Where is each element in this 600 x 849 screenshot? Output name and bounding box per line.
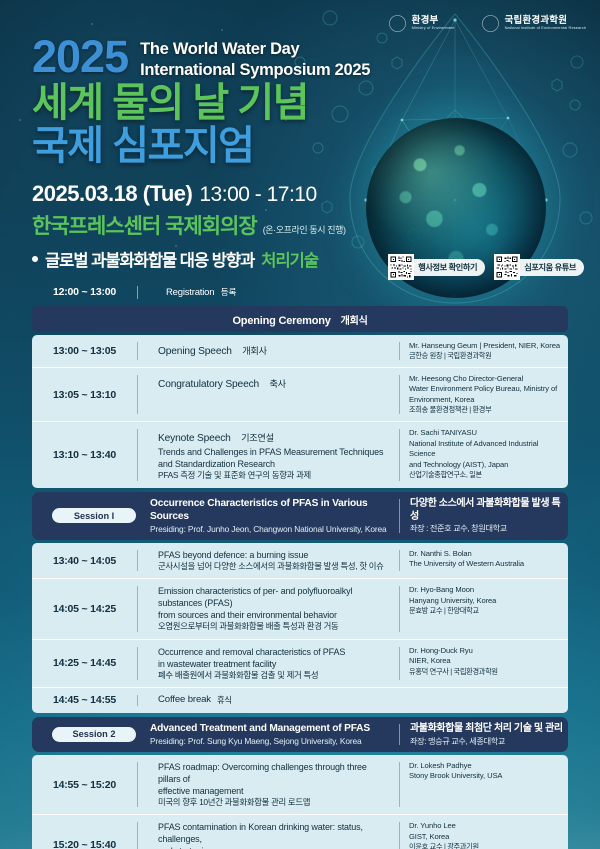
topic-en: PFAS contamination in Korean drinking wa…	[158, 821, 391, 845]
speaker-en: and Technology (AIST), Japan	[409, 460, 562, 470]
session1-header: Session I Occurrence Characteristics of …	[32, 492, 568, 540]
speaker-en: Hanyang University, Korea	[409, 596, 562, 606]
row-time: 13:00 ~ 13:05	[32, 335, 137, 367]
event-time: 13:00 - 17:10	[199, 183, 316, 207]
topic-en: from sources and their environmental beh…	[158, 609, 391, 621]
topic-en: Congratulatory Speech	[158, 379, 259, 390]
speaker-en: NIER, Korea	[409, 656, 562, 666]
registration-title-kr: 등록	[221, 287, 236, 297]
row-time: 15:20 ~ 15:40	[32, 815, 137, 849]
topic-sub-kr: PFAS 측정 기술 및 표준화 연구의 동향과 과제	[158, 470, 391, 481]
speaker-kr: 유홍덕 연구사 | 국립환경과학원	[409, 667, 562, 677]
row-speaker: Mr. Heesong Cho Director-General Water E…	[400, 368, 568, 421]
topic-en: Emission characteristics of per- and pol…	[158, 585, 391, 609]
topic-kr: 오염원으로부터의 과불화화합물 배출 특성과 환경 거동	[158, 621, 391, 632]
row-topic: PFAS contamination in Korean drinking wa…	[138, 815, 399, 849]
qr-code-icon[interactable]	[494, 254, 520, 280]
session1-presiding-en: Presiding: Prof. Junho Jeon, Changwon Na…	[150, 524, 399, 535]
speaker-en: The University of Western Australia	[409, 559, 562, 569]
speaker-en: National Institute of Advanced Industria…	[409, 439, 562, 460]
topic-kr: 휴식	[217, 695, 232, 706]
topic-kr: 폐수 배출원에서 과불화화합물 검출 및 제거 특성	[158, 670, 391, 681]
speaker-en: Water Environment Policy Bureau, Ministr…	[409, 384, 562, 405]
speaker-en: GIST, Korea	[409, 832, 562, 842]
table-row: 13:00 ~ 13:05 Opening Speech 개회사 Mr. Han…	[32, 335, 568, 368]
row-topic: Opening Speech 개회사	[138, 335, 399, 367]
taegeuk-icon	[481, 14, 500, 33]
topic-en: effective management	[158, 785, 391, 797]
topic-en: and strategic responses	[158, 845, 391, 849]
opening-ceremony-rows: 13:00 ~ 13:05 Opening Speech 개회사 Mr. Han…	[32, 335, 568, 488]
qr-youtube-label[interactable]: 심포지움 유튜브	[511, 259, 584, 276]
qr-event-info-label[interactable]: 행사정보 확인하기	[405, 259, 485, 276]
registration-title-en: Registration	[166, 287, 214, 298]
session1-info: Occurrence Characteristics of PFAS in Va…	[136, 497, 399, 535]
date-year: 2025.	[32, 181, 85, 207]
topic-en: Occurrence and removal characteristics o…	[158, 646, 391, 658]
topic-en: Opening Speech	[158, 346, 232, 357]
row-topic: PFAS beyond defence: a burning issue 군사시…	[138, 543, 399, 578]
year-heading: 2025	[32, 36, 128, 77]
session2-info-kr: 과불화화합물 최첨단 처리 기술 및 관리 좌장: 맹승규 교수, 세종대학교	[400, 722, 568, 747]
opening-ceremony-band: Opening Ceremony 개회식	[32, 306, 568, 332]
topic-kr: 축사	[270, 379, 286, 389]
korean-title-line1: 세계 물의 날 기념	[32, 82, 370, 125]
topic-line: 글로벌 과불화화합물 대응 방향과 처리기술	[32, 247, 318, 271]
qr-youtube[interactable]: 심포지움 유튜브	[494, 254, 584, 280]
row-time: 13:05 ~ 13:10	[32, 368, 137, 421]
english-title: The World Water Day International Sympos…	[140, 36, 370, 81]
row-speaker: Dr. Yunho Lee GIST, Korea 이윤호 교수 | 광주과기원	[400, 815, 568, 849]
speaker-en: Dr. Lokesh Padhye	[409, 761, 562, 771]
topic-en: in wastewater treatment facility	[158, 658, 391, 670]
session1-badge: Session I	[52, 508, 136, 523]
table-row: 14:05 ~ 14:25 Emission characteristics o…	[32, 579, 568, 639]
topic-kr: 미국의 향후 10년간 과불화화합물 관리 로드맵	[158, 797, 391, 808]
topic-main: 글로벌 과불화화합물 대응 방향과	[45, 247, 254, 271]
registration-time: 12:00 ~ 13:00	[32, 286, 137, 298]
org-logos: 환경부 Ministry of Environment 국립환경과학원 Nati…	[388, 14, 586, 33]
topic-en: Coffee break	[158, 694, 211, 707]
logo-nier: 국립환경과학원 National Institute of Environmen…	[481, 14, 586, 33]
session1-info-kr: 다양한 소스에서 과불화화합물 발생 특성 좌장 : 전준호 교수, 창원대학교	[400, 497, 568, 535]
speaker-en: Dr. Nanthi S. Bolan	[409, 549, 562, 559]
table-row: 13:10 ~ 13:40 Keynote Speech 기조연설 Trends…	[32, 422, 568, 487]
session2-badge: Session 2	[52, 727, 136, 742]
row-time: 14:55 ~ 15:20	[32, 755, 137, 814]
opening-band-kr: 개회식	[341, 316, 368, 327]
speaker-kr: 금한승 원장 | 국립환경과학원	[409, 351, 562, 361]
row-topic: Emission characteristics of per- and pol…	[138, 579, 399, 638]
row-time: 14:05 ~ 14:25	[32, 579, 137, 638]
row-speaker: Dr. Hong-Duck Ryu NIER, Korea 유홍덕 연구사 | …	[400, 640, 568, 687]
session1-title-en: Occurrence Characteristics of PFAS in Va…	[150, 497, 399, 524]
session2-header: Session 2 Advanced Treatment and Managem…	[32, 717, 568, 752]
table-row: 13:05 ~ 13:10 Congratulatory Speech 축사 M…	[32, 368, 568, 422]
poster-canvas: 환경부 Ministry of Environment 국립환경과학원 Nati…	[0, 0, 600, 849]
table-row: 13:40 ~ 14:05 PFAS beyond defence: a bur…	[32, 543, 568, 579]
title-block: 2025 The World Water Day International S…	[32, 36, 370, 240]
topic-en: Keynote Speech	[158, 433, 231, 444]
session1-title-kr: 다양한 소스에서 과불화화합물 발생 특성	[410, 497, 568, 523]
topic-en: PFAS roadmap: Overcoming challenges thro…	[158, 761, 391, 785]
venue-note: (온·오프라인 동시 진행)	[263, 223, 346, 236]
table-row: 15:20 ~ 15:40 PFAS contamination in Kore…	[32, 815, 568, 849]
opening-band-en: Opening Ceremony	[232, 315, 330, 327]
row-topic: PFAS roadmap: Overcoming challenges thro…	[138, 755, 399, 814]
session2-title-kr: 과불화화합물 최첨단 처리 기술 및 관리	[410, 722, 568, 735]
row-topic: Congratulatory Speech 축사	[138, 368, 399, 421]
speaker-kr: 산업기술종합연구소, 일본	[409, 470, 562, 480]
speaker-en: Mr. Heesong Cho Director-General	[409, 374, 562, 384]
session1-presiding-kr: 좌장 : 전준호 교수, 창원대학교	[410, 523, 568, 534]
row-speaker: Dr. Nanthi S. Bolan The University of We…	[400, 543, 568, 578]
speaker-en: Dr. Sachi TANIYASU	[409, 428, 562, 438]
row-time: 13:40 ~ 14:05	[32, 543, 137, 578]
qr-code-group: 행사정보 확인하기	[388, 254, 584, 280]
english-title-line1: The World Water Day	[140, 39, 370, 60]
venue-line: 한국프레스센터 국제회의장 (온·오프라인 동시 진행)	[32, 210, 370, 240]
row-topic: Occurrence and removal characteristics o…	[138, 640, 399, 687]
row-speaker: Dr. Lokesh Padhye Stony Brook University…	[400, 755, 568, 814]
topic-accent: 처리기술	[261, 247, 318, 271]
session2-rows: 14:55 ~ 15:20 PFAS roadmap: Overcoming c…	[32, 755, 568, 849]
schedule: 12:00 ~ 13:00 Registration 등록 Opening Ce…	[32, 282, 568, 849]
topic-en: PFAS beyond defence: a burning issue	[158, 549, 391, 561]
speaker-en: Stony Brook University, USA	[409, 771, 562, 781]
speaker-en: Dr. Yunho Lee	[409, 821, 562, 831]
speaker-kr: 문효방 교수 | 한양대학교	[409, 606, 562, 616]
row-time: 13:10 ~ 13:40	[32, 422, 137, 487]
row-time: 14:25 ~ 14:45	[32, 640, 137, 687]
topic-kr: 기조연설	[241, 433, 274, 443]
speaker-en: Mr. Hanseung Geum | President, NIER, Kor…	[409, 341, 562, 351]
table-row: 14:25 ~ 14:45 Occurrence and removal cha…	[32, 640, 568, 688]
row-topic: Keynote Speech 기조연설 Trends and Challenge…	[138, 422, 399, 487]
row-speaker: Dr. Sachi TANIYASU National Institute of…	[400, 422, 568, 487]
session2-info: Advanced Treatment and Management of PFA…	[136, 722, 399, 747]
session1-rows: 13:40 ~ 14:05 PFAS beyond defence: a bur…	[32, 543, 568, 713]
row-speaker: Dr. Hyo-Bang Moon Hanyang University, Ko…	[400, 579, 568, 638]
row-time: 14:45 ~ 14:55	[32, 688, 137, 713]
qr-code-icon[interactable]	[388, 254, 414, 280]
venue-name: 한국프레스센터 국제회의장	[32, 210, 257, 240]
session2-presiding-en: Presiding: Prof. Sung Kyu Maeng, Sejong …	[150, 736, 399, 747]
bullet-icon	[32, 256, 38, 262]
registration-desc: Registration 등록	[138, 286, 236, 298]
table-row: 14:55 ~ 15:20 PFAS roadmap: Overcoming c…	[32, 755, 568, 815]
taegeuk-icon	[388, 14, 407, 33]
date-line: 2025. 03.18 (Tue) 13:00 - 17:10	[32, 181, 370, 207]
registration-row: 12:00 ~ 13:00 Registration 등록	[32, 282, 568, 302]
row-topic: Coffee break 휴식	[138, 688, 568, 713]
korean-title-line2: 국제 심포지엄	[32, 125, 370, 168]
topic-kr: 개회사	[242, 346, 266, 356]
session2-presiding-kr: 좌장: 맹승규 교수, 세종대학교	[410, 736, 568, 747]
session2-title-en: Advanced Treatment and Management of PFA…	[150, 722, 399, 735]
table-row: 14:45 ~ 14:55 Coffee break 휴식	[32, 688, 568, 713]
speaker-kr: 조희송 물환경정책관 | 환경부	[409, 405, 562, 415]
speaker-kr: 이윤호 교수 | 광주과기원	[409, 842, 562, 849]
qr-event-info[interactable]: 행사정보 확인하기	[388, 254, 485, 280]
logo-label-en: National Institute of Environmental Rese…	[505, 26, 586, 30]
date-month-day: 03.18 (Tue)	[85, 181, 193, 207]
logo-label-en: Ministry of Environment	[412, 26, 455, 30]
topic-sub-en: Trends and Challenges in PFAS Measuremen…	[158, 446, 391, 470]
row-speaker: Mr. Hanseung Geum | President, NIER, Kor…	[400, 335, 568, 367]
topic-kr: 군사시설을 넘어 다양한 소스에서의 과불화화합물 발생 특성, 핫 이슈	[158, 561, 391, 572]
speaker-en: Dr. Hyo-Bang Moon	[409, 585, 562, 595]
speaker-en: Dr. Hong-Duck Ryu	[409, 646, 562, 656]
english-title-line2: International Symposium 2025	[140, 60, 370, 81]
logo-ministry-of-environment: 환경부 Ministry of Environment	[388, 14, 455, 33]
